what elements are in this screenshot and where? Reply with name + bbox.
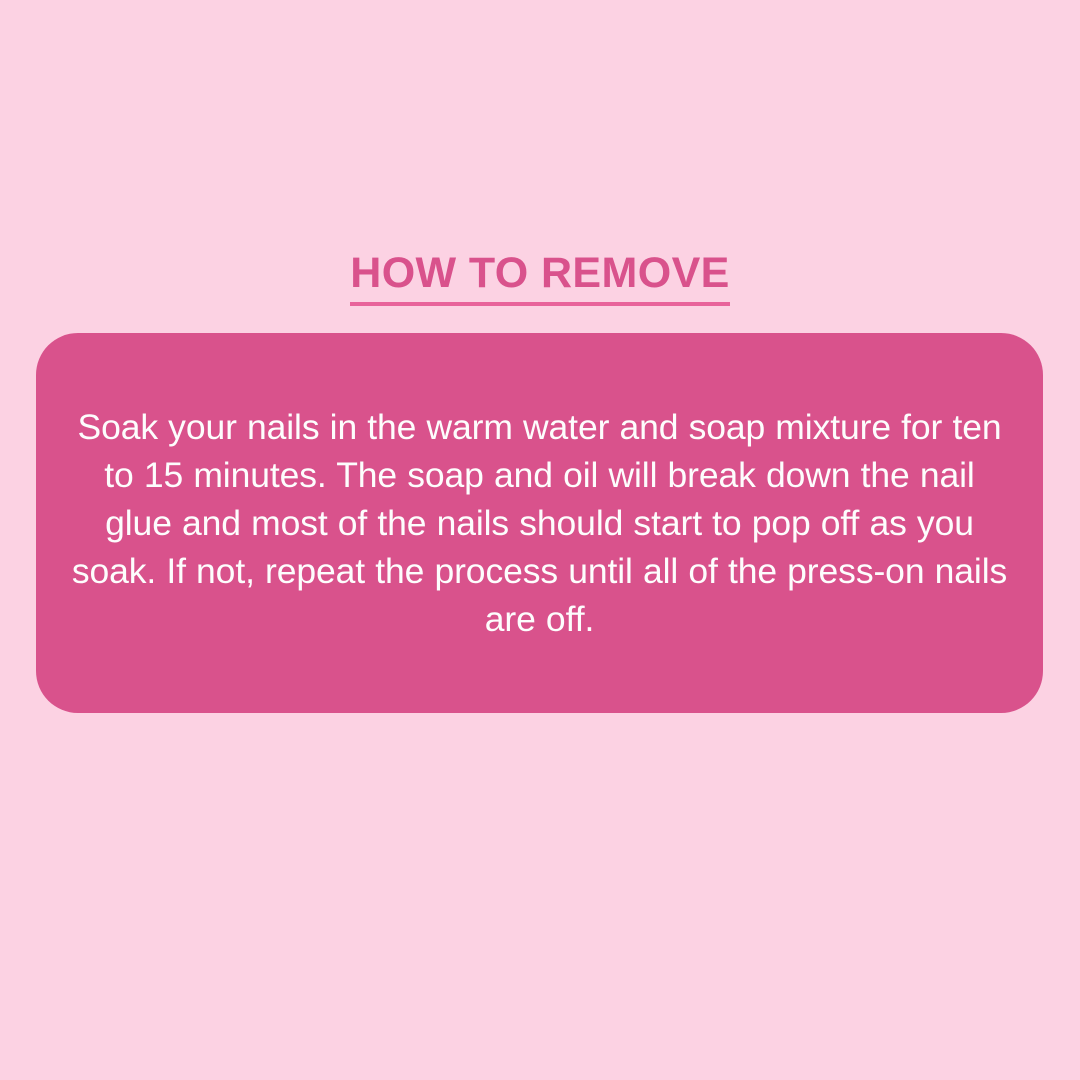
instructions-body-text: Soak your nails in the warm water and so… <box>60 403 1020 643</box>
page-title-text: HOW TO REMOVE <box>350 248 729 306</box>
how-to-remove-poster: HOW TO REMOVE Soak your nails in the war… <box>0 0 1080 1080</box>
instructions-card: Soak your nails in the warm water and so… <box>36 333 1043 713</box>
page-title: HOW TO REMOVE <box>0 248 1080 306</box>
